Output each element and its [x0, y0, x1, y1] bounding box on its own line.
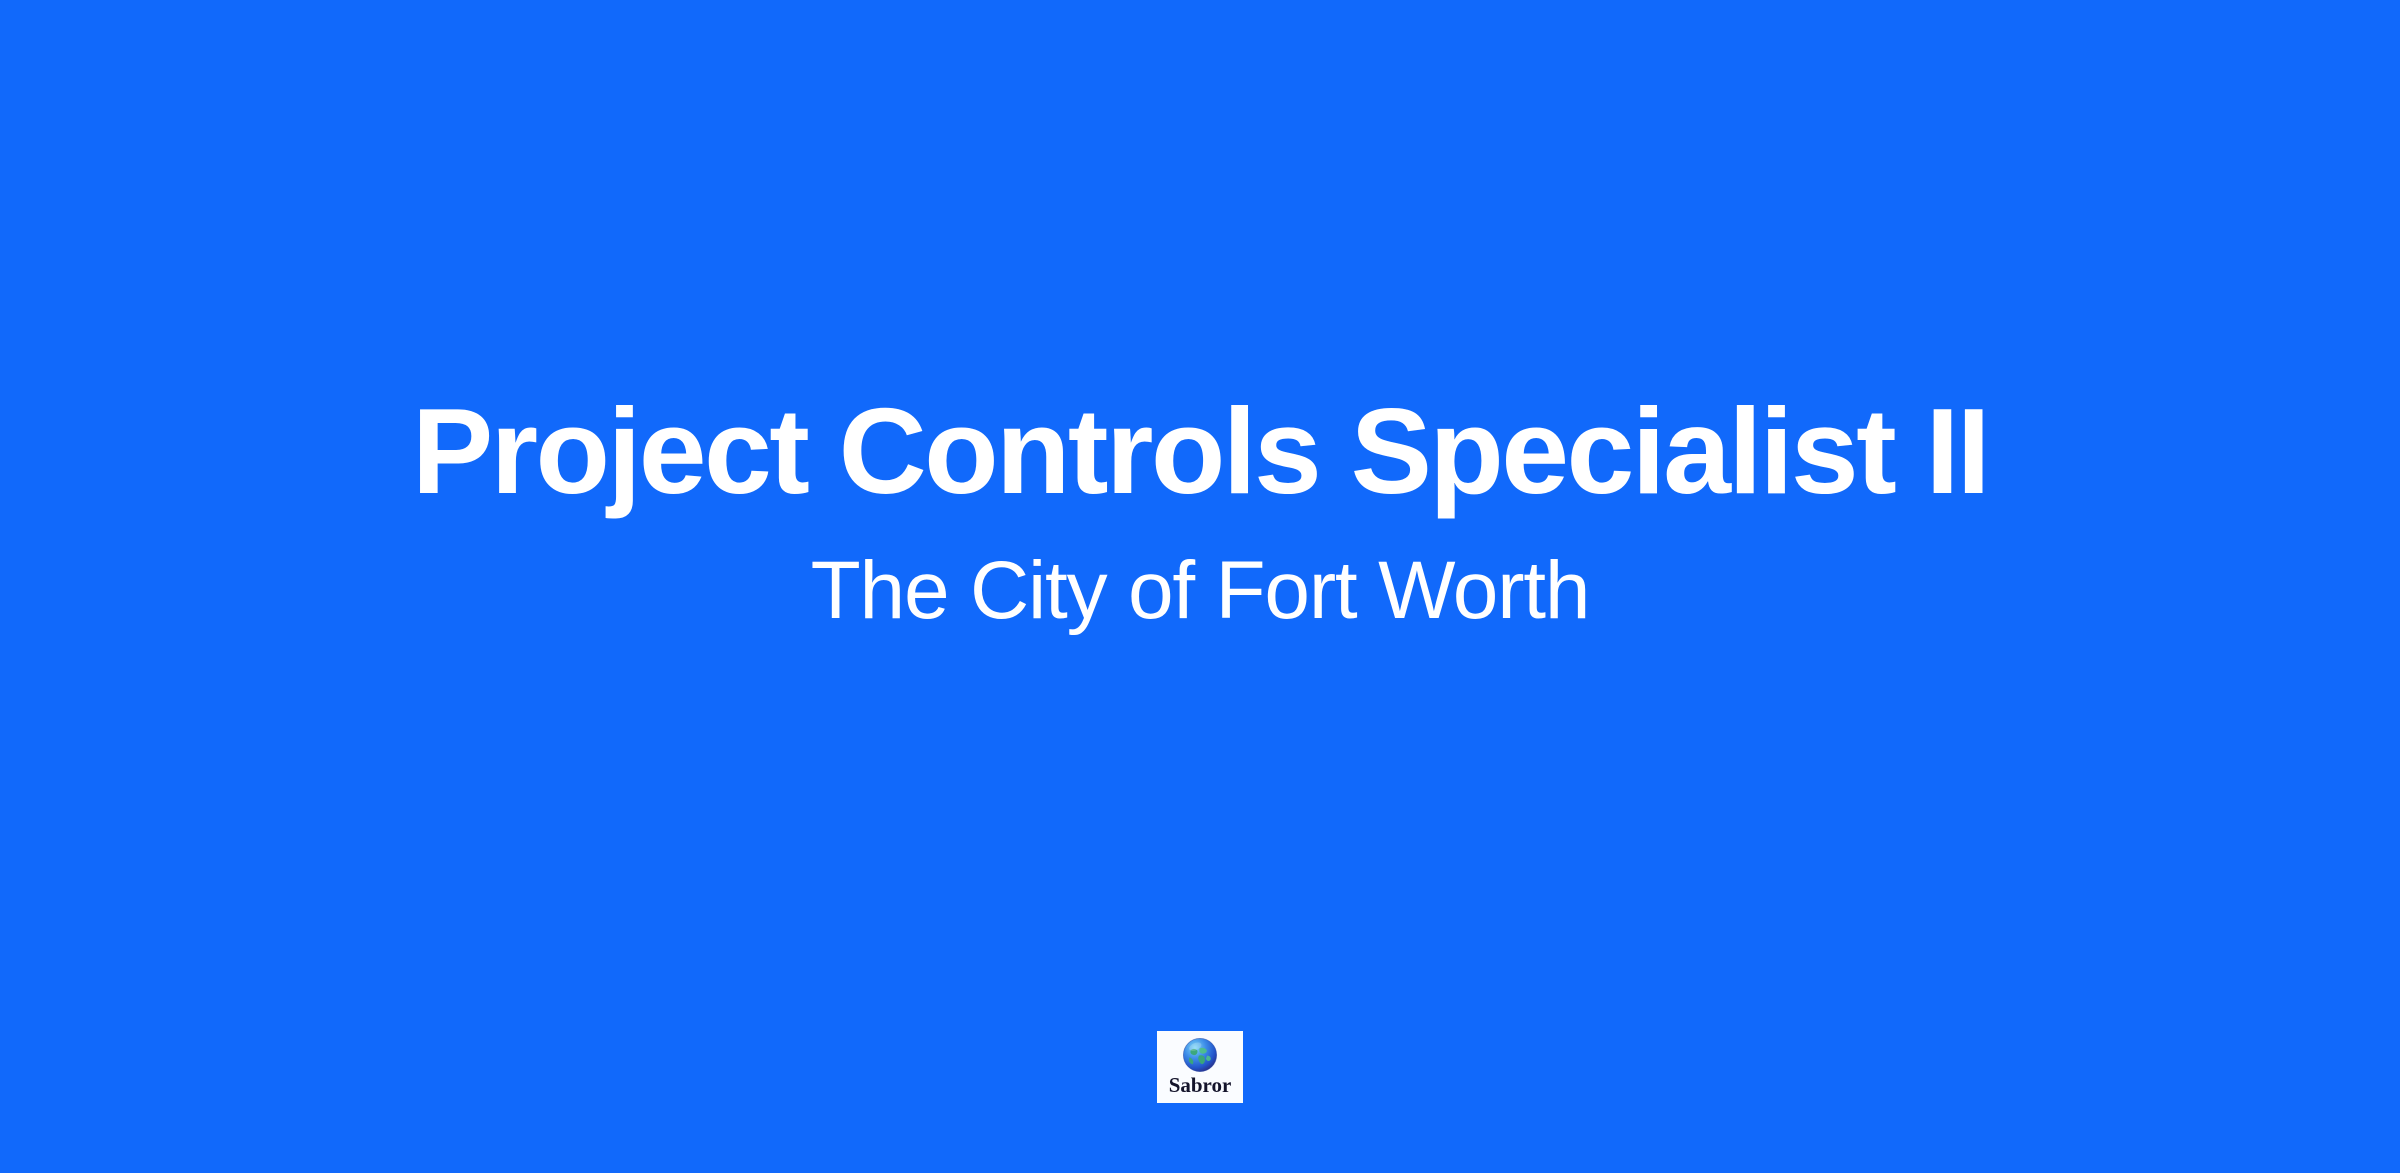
brand-logo-card: Sabror — [1157, 1031, 1243, 1103]
globe-icon — [1181, 1036, 1219, 1074]
headline-block: Project Controls Specialist II The City … — [0, 390, 2400, 632]
page-subtitle: The City of Fort Worth — [811, 512, 1590, 632]
page-title: Project Controls Specialist II — [412, 390, 1988, 512]
job-posting-hero-slide: Project Controls Specialist II The City … — [0, 0, 2400, 1173]
brand-wordmark: Sabror — [1169, 1075, 1232, 1096]
